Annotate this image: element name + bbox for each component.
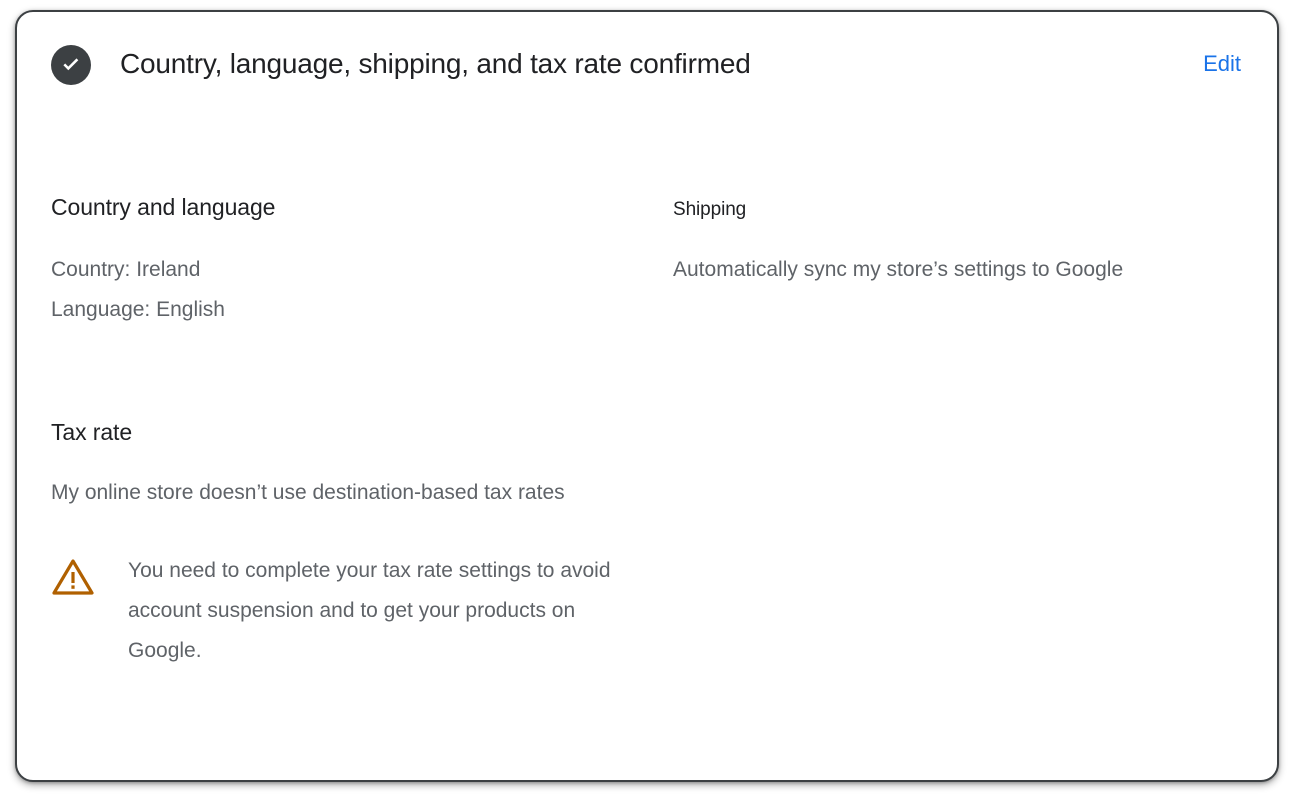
details-columns: Country and language Country: Ireland La… — [51, 192, 1243, 330]
language-value: Language: English — [51, 290, 673, 330]
tax-rate-heading: Tax rate — [51, 417, 673, 447]
check-circle-icon — [51, 45, 91, 85]
page-title: Country, language, shipping, and tax rat… — [120, 47, 751, 81]
country-language-section: Country and language Country: Ireland La… — [51, 192, 673, 330]
shipping-description: Automatically sync my store’s settings t… — [673, 250, 1233, 290]
tax-rate-warning: You need to complete your tax rate setti… — [51, 551, 673, 671]
shipping-heading: Shipping — [673, 197, 1233, 223]
screen-root: Country, language, shipping, and tax rat… — [0, 0, 1296, 800]
country-value: Country: Ireland — [51, 250, 673, 290]
card-header: Country, language, shipping, and tax rat… — [17, 12, 1277, 116]
warning-triangle-icon — [51, 551, 99, 597]
shipping-section: Shipping Automatically sync my store’s s… — [673, 192, 1233, 290]
tax-rate-section: Tax rate My online store doesn’t use des… — [51, 417, 673, 671]
warning-message: You need to complete your tax rate setti… — [128, 551, 628, 671]
confirmation-card: Country, language, shipping, and tax rat… — [15, 10, 1279, 782]
country-language-heading: Country and language — [51, 192, 673, 222]
edit-button[interactable]: Edit — [1201, 46, 1243, 82]
tax-rate-description: My online store doesn’t use destination-… — [51, 473, 596, 513]
